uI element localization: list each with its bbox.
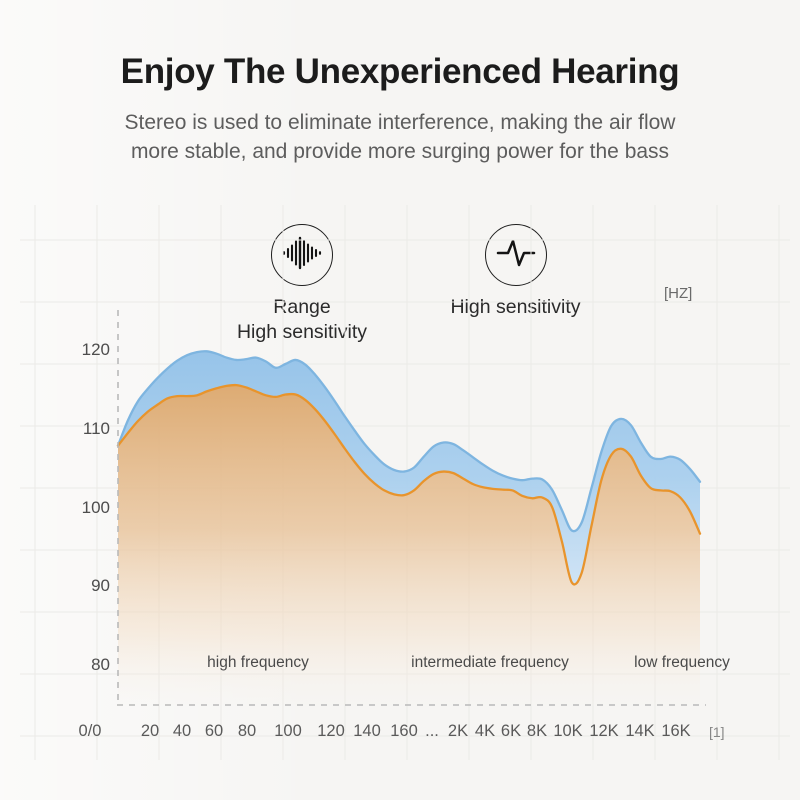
upper-series-line — [118, 351, 700, 531]
x-axis-tick-label: 8K — [527, 722, 547, 741]
x-axis-tick-label: 10K — [553, 722, 582, 741]
subtitle-line-1: Stereo is used to eliminate interference… — [55, 109, 745, 138]
header: Enjoy The Unexperienced Hearing Stereo i… — [0, 52, 800, 167]
y-axis-tick-label: 100 — [62, 498, 110, 518]
x-axis-tick-label: 80 — [238, 722, 256, 741]
badge-label-line-1: High sensitivity — [413, 295, 618, 320]
y-axis-unit-label: [HZ] — [664, 285, 692, 302]
y-axis-ticks: 1201101009080 — [58, 0, 110, 800]
x-axis-tick-label: 16K — [661, 722, 690, 741]
x-axis-tick-label: 4K — [475, 722, 495, 741]
x-axis-tick-label: 2K — [448, 722, 468, 741]
y-axis-tick-label: 120 — [62, 340, 110, 360]
badge-circle — [271, 224, 333, 286]
y-axis-tick-label: 110 — [62, 419, 110, 439]
lower-series-line — [118, 385, 700, 584]
feature-badge-sensitivity: High sensitivity — [413, 224, 618, 320]
x-axis-tick-label: 6K — [501, 722, 521, 741]
badge-label: Range High sensitivity — [196, 295, 408, 345]
pulse-icon — [496, 237, 536, 274]
x-axis-tick-label: 160 — [390, 722, 418, 741]
x-axis-tick-label: 0/0 — [79, 722, 102, 741]
chart-areas — [118, 351, 700, 705]
badge-label: High sensitivity — [413, 295, 618, 320]
y-axis-tick-label: 90 — [62, 576, 110, 596]
x-axis-tick-label: ... — [425, 722, 439, 741]
x-axis-tick-label: 14K — [625, 722, 654, 741]
audio-waveform-icon — [282, 236, 322, 275]
subtitle-line-2: more stable, and provide more surging po… — [55, 138, 745, 167]
upper-area-fill — [118, 351, 700, 584]
infographic-root: Enjoy The Unexperienced Hearing Stereo i… — [0, 0, 800, 800]
x-axis-tick-label: 20 — [141, 722, 159, 741]
x-axis-tick-label: 100 — [274, 722, 302, 741]
page-title: Enjoy The Unexperienced Hearing — [0, 52, 800, 92]
chart-axes — [117, 310, 706, 705]
frequency-band-label: low frequency — [634, 654, 730, 672]
badge-label-line-2: High sensitivity — [196, 320, 408, 345]
badge-circle — [485, 224, 547, 286]
badge-label-line-1: Range — [196, 295, 408, 320]
x-axis-ticks: 0/020406080100120140160...2K4K6K8K10K12K… — [0, 722, 800, 746]
x-axis-tick-label: 140 — [353, 722, 381, 741]
feature-badge-range: Range High sensitivity — [196, 224, 408, 345]
x-axis-tick-label: 120 — [317, 722, 345, 741]
x-axis-tick-label: 40 — [173, 722, 191, 741]
x-axis-tick-label: 60 — [205, 722, 223, 741]
frequency-band-label: high frequency — [207, 654, 309, 672]
x-axis-tick-label: 12K — [589, 722, 618, 741]
page-subtitle: Stereo is used to eliminate interference… — [55, 109, 745, 167]
x-axis-unit-label: [1] — [709, 724, 725, 740]
frequency-band-labels: high frequencyintermediate frequencylow … — [0, 654, 800, 678]
frequency-band-label: intermediate frequency — [411, 654, 569, 672]
